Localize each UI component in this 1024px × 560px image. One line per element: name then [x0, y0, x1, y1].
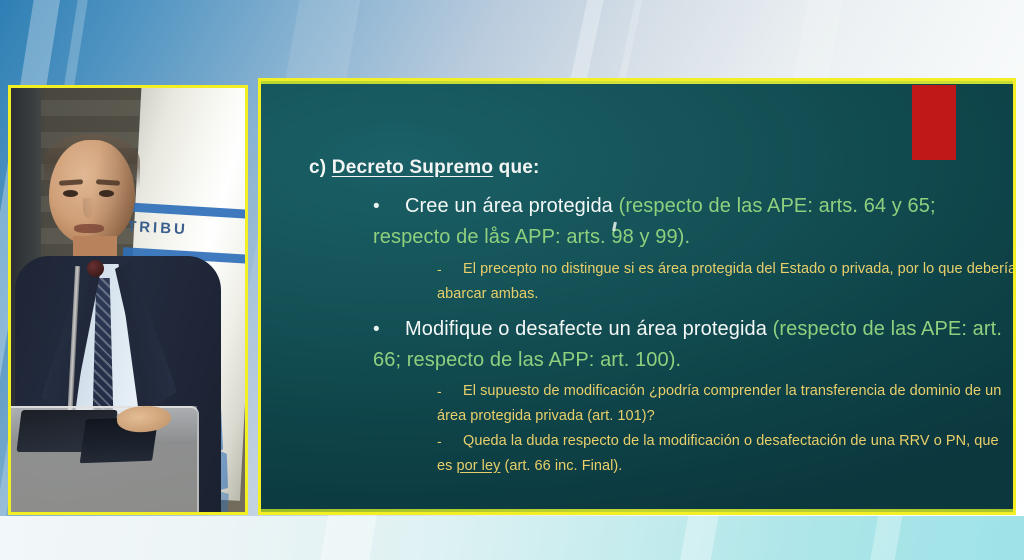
bullet-text-white: Modifique o desafecte un área protegida — [405, 318, 773, 340]
bullet-item: • Cree un área protegida (respecto de la… — [373, 191, 1013, 253]
speaker-eye — [63, 190, 78, 197]
sub-bullet-dash-icon: - — [437, 257, 455, 282]
bullet-dot-icon: • — [373, 191, 395, 222]
heading-underlined: Decreto Supremo — [332, 157, 493, 178]
sub-bullet-row: - El precepto no distingue si es área pr… — [437, 257, 1013, 307]
bullet-text: Cree un área protegida (respecto de las … — [373, 195, 936, 248]
bullet-row: • Modifique o desafecte un área protegid… — [373, 314, 1013, 376]
sub-bullet-text: El precepto no distingue si es área prot… — [437, 261, 1013, 302]
sub-text-post: (art. 66 inc. Final). — [500, 458, 622, 474]
sub-bullet-row: - El supuesto de modificación ¿podría co… — [437, 379, 1013, 429]
sub-text-underlined: por ley — [457, 458, 501, 474]
bullet-text-white: Cree un área protegida — [405, 195, 619, 217]
heading-suffix: que: — [493, 157, 539, 178]
sub-bullet-dash-icon: - — [437, 429, 455, 454]
screen-stage: TRIBU — [0, 0, 1024, 560]
video-scene: TRIBU — [11, 88, 245, 512]
sub-bullet-group: - El supuesto de modificación ¿podría co… — [437, 379, 1013, 479]
bullet-item: • Modifique o desafecte un área protegid… — [373, 314, 1013, 376]
sub-bullet-group: - El precepto no distingue si es área pr… — [437, 257, 1013, 307]
speaker-nose — [83, 198, 93, 218]
sub-bullet-text: Queda la duda respecto de la modificació… — [437, 433, 999, 474]
bullet-dot-icon: • — [373, 314, 395, 345]
heading-prefix: c) — [309, 157, 332, 178]
speaker-video-feed[interactable]: TRIBU — [8, 85, 248, 515]
microphone-icon — [87, 260, 104, 277]
slide-canvas: c) Decreto Supremo que: • Cree un área p… — [261, 81, 1013, 512]
background-lower-band — [0, 516, 1024, 560]
sub-bullet-text: El supuesto de modificación ¿podría comp… — [437, 383, 1001, 424]
bullet-row: • Cree un área protegida (respecto de la… — [373, 191, 1013, 253]
bullet-text: Modifique o desafecte un área protegida … — [373, 318, 1002, 371]
slide-heading: c) Decreto Supremo que: — [309, 157, 540, 179]
presentation-slide[interactable]: c) Decreto Supremo que: • Cree un área p… — [258, 78, 1016, 515]
sub-bullet-dash-icon: - — [437, 379, 455, 404]
speaker-mouth — [74, 224, 104, 233]
slide-content: c) Decreto Supremo que: • Cree un área p… — [261, 81, 1013, 512]
sub-bullet-row: - Queda la duda respecto de la modificac… — [437, 429, 1013, 479]
speaker-eye — [99, 190, 114, 197]
